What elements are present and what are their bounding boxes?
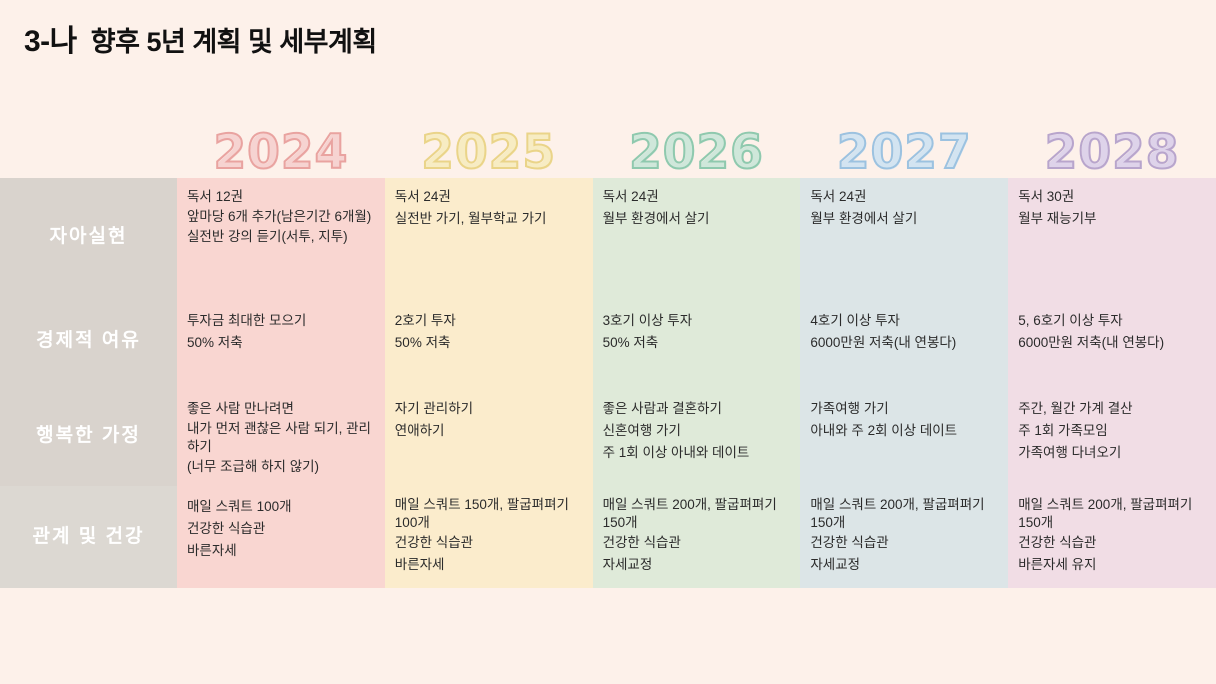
cell-line: 독서 24권 [810,186,998,208]
cell-line: 실전반 강의 듣기(서투, 지투) [187,226,375,248]
five-year-plan-table: 2024 2025 2026 2027 2028 자아실현 경제적 여유 행복한… [0,115,1216,588]
page-title: 3-나 향후 5년 계획 및 세부계획 [24,16,377,60]
cell-line: 건강한 식습관 [1018,532,1206,554]
cell-line: 건강한 식습관 [187,518,375,540]
table-body: 자아실현 경제적 여유 행복한 가정 관계 및 건강 독서 12권앞마당 6개 … [0,178,1216,588]
cell-line: 바른자세 유지 [1018,554,1206,576]
cell-line: 자세교정 [603,554,791,576]
year-column-2027: 독서 24권월부 환경에서 살기 4호기 이상 투자6000만원 저축(내 연봉… [800,178,1008,588]
row-label-financial-freedom: 경제적 여유 [0,296,177,386]
cell-2024-happy-family: 좋은 사람 만나려면내가 먼저 괜찮은 사람 되기, 관리하기(너무 조급해 하… [177,386,385,486]
cell-2026-financial-freedom: 3호기 이상 투자50% 저축 [593,296,801,386]
cell-line: 매일 스쿼트 200개, 팔굽펴펴기 150개 [810,496,998,532]
cell-line: 매일 스쿼트 100개 [187,496,375,518]
cell-line: 2호기 투자 [395,310,583,332]
cell-line: 건강한 식습관 [603,532,791,554]
cell-2025-happy-family: 자기 관리하기연애하기 [385,386,593,486]
cell-line: 건강한 식습관 [810,532,998,554]
row-label-relationships-health: 관계 및 건강 [0,486,177,588]
cell-line: 자기 관리하기 [395,398,583,420]
row-label-happy-family: 행복한 가정 [0,386,177,486]
cell-line: 월부 환경에서 살기 [603,208,791,230]
cell-line: 주 1회 가족모임 [1018,420,1206,442]
cell-line: 바른자세 [395,554,583,576]
cell-2028-happy-family: 주간, 월간 가계 결산주 1회 가족모임가족여행 다녀오기 [1008,386,1216,486]
year-column-2026: 독서 24권월부 환경에서 살기 3호기 이상 투자50% 저축 좋은 사람과 … [593,178,801,588]
cell-line: 투자금 최대한 모으기 [187,310,375,332]
cell-line: 4호기 이상 투자 [810,310,998,332]
cell-line: 건강한 식습관 [395,532,583,554]
cell-line: 가족여행 다녀오기 [1018,442,1206,464]
cell-2028-self-realization: 독서 30권월부 재능기부 [1008,178,1216,296]
cell-line: 가족여행 가기 [810,398,998,420]
row-label-self-realization: 자아실현 [0,178,177,296]
year-column-2025: 독서 24권실전반 가기, 월부학교 가기 2호기 투자50% 저축 자기 관리… [385,178,593,588]
cell-line: 좋은 사람 만나려면 [187,398,375,420]
row-label-column: 자아실현 경제적 여유 행복한 가정 관계 및 건강 [0,178,177,588]
cell-line: (너무 조급해 하지 않기) [187,456,375,478]
cell-line: 독서 24권 [603,186,791,208]
cell-line: 연애하기 [395,420,583,442]
cell-line: 6000만원 저축(내 연봉다) [810,332,998,354]
year-column-2028: 독서 30권월부 재능기부 5, 6호기 이상 투자6000만원 저축(내 연봉… [1008,178,1216,588]
year-header-2027: 2027 [800,129,1008,178]
title-number: 3-나 [24,16,77,60]
cell-line: 바른자세 [187,540,375,562]
cell-line: 매일 스쿼트 200개, 팔굽펴펴기 150개 [603,496,791,532]
cell-2026-self-realization: 독서 24권월부 환경에서 살기 [593,178,801,296]
year-header-2026: 2026 [593,129,801,178]
cell-2028-relationships-health: 매일 스쿼트 200개, 팔굽펴펴기 150개건강한 식습관바른자세 유지 [1008,486,1216,588]
cell-line: 월부 환경에서 살기 [810,208,998,230]
cell-line: 실전반 가기, 월부학교 가기 [395,208,583,230]
cell-line: 50% 저축 [603,332,791,354]
cell-line: 독서 30권 [1018,186,1206,208]
cell-line: 앞마당 6개 추가(남은기간 6개월) [187,208,375,226]
cell-line: 독서 24권 [395,186,583,208]
year-header-row: 2024 2025 2026 2027 2028 [0,115,1216,178]
cell-line: 자세교정 [810,554,998,576]
cell-line: 주 1회 이상 아내와 데이트 [603,442,791,464]
cell-2027-self-realization: 독서 24권월부 환경에서 살기 [800,178,1008,296]
cell-2024-relationships-health: 매일 스쿼트 100개건강한 식습관바른자세 [177,486,385,588]
cell-2024-self-realization: 독서 12권앞마당 6개 추가(남은기간 6개월)실전반 강의 듣기(서투, 지… [177,178,385,296]
cell-line: 50% 저축 [187,332,375,354]
cell-2024-financial-freedom: 투자금 최대한 모으기50% 저축 [177,296,385,386]
cell-line: 6000만원 저축(내 연봉다) [1018,332,1206,354]
cell-line: 5, 6호기 이상 투자 [1018,310,1206,332]
cell-2027-relationships-health: 매일 스쿼트 200개, 팔굽펴펴기 150개건강한 식습관자세교정 [800,486,1008,588]
cell-line: 매일 스쿼트 200개, 팔굽펴펴기 150개 [1018,496,1206,532]
title-text: 향후 5년 계획 및 세부계획 [91,20,377,59]
cell-line: 3호기 이상 투자 [603,310,791,332]
cell-2027-financial-freedom: 4호기 이상 투자6000만원 저축(내 연봉다) [800,296,1008,386]
cell-line: 아내와 주 2회 이상 데이트 [810,420,998,442]
cell-2026-relationships-health: 매일 스쿼트 200개, 팔굽펴펴기 150개건강한 식습관자세교정 [593,486,801,588]
cell-2025-relationships-health: 매일 스쿼트 150개, 팔굽펴펴기 100개건강한 식습관바른자세 [385,486,593,588]
year-header-2024: 2024 [177,129,385,178]
cell-2025-self-realization: 독서 24권실전반 가기, 월부학교 가기 [385,178,593,296]
cell-2027-happy-family: 가족여행 가기아내와 주 2회 이상 데이트 [800,386,1008,486]
cell-2025-financial-freedom: 2호기 투자50% 저축 [385,296,593,386]
cell-line: 독서 12권 [187,186,375,208]
cell-line: 내가 먼저 괜찮은 사람 되기, 관리하기 [187,420,375,456]
cell-2028-financial-freedom: 5, 6호기 이상 투자6000만원 저축(내 연봉다) [1008,296,1216,386]
cell-line: 월부 재능기부 [1018,208,1206,230]
cell-line: 매일 스쿼트 150개, 팔굽펴펴기 100개 [395,496,583,532]
year-column-2024: 독서 12권앞마당 6개 추가(남은기간 6개월)실전반 강의 듣기(서투, 지… [177,178,385,588]
cell-line: 주간, 월간 가계 결산 [1018,398,1206,420]
cell-line: 좋은 사람과 결혼하기 [603,398,791,420]
cell-line: 신혼여행 가기 [603,420,791,442]
cell-2026-happy-family: 좋은 사람과 결혼하기신혼여행 가기주 1회 이상 아내와 데이트 [593,386,801,486]
year-header-2028: 2028 [1008,129,1216,178]
year-header-2025: 2025 [385,129,593,178]
cell-line: 50% 저축 [395,332,583,354]
